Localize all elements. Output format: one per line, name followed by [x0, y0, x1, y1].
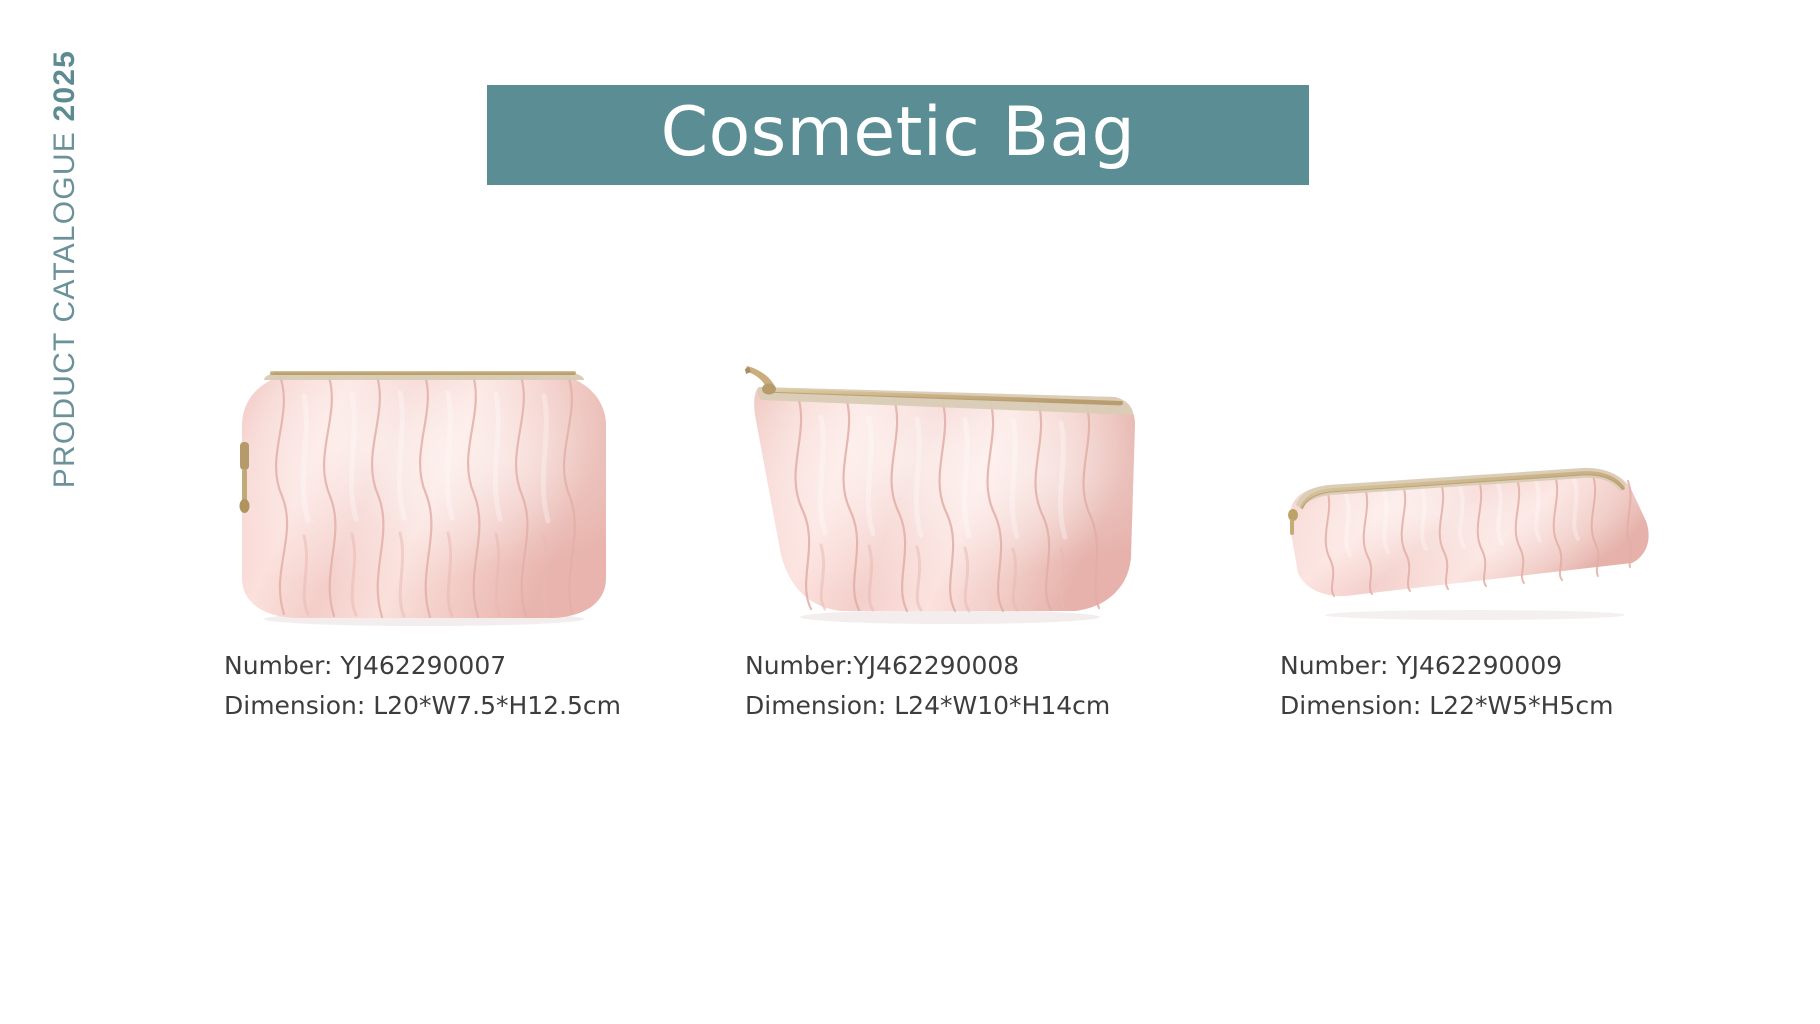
- catalogue-title-vertical: PRODUCT CATALOGUE 2025: [50, 50, 80, 488]
- catalogue-year: 2025: [48, 50, 81, 122]
- product-image-3: [1280, 455, 1670, 625]
- page-title-banner: Cosmetic Bag: [487, 85, 1309, 185]
- product-number-3: Number: YJ462290009: [1280, 646, 1562, 686]
- cosmetic-bag-trapezoid-icon: [745, 345, 1145, 625]
- product-image-2: [745, 345, 1145, 625]
- product-dimension-2: Dimension: L24*W10*H14cm: [745, 686, 1110, 726]
- product-number-1: Number: YJ462290007: [224, 646, 506, 686]
- page-title: Cosmetic Bag: [661, 99, 1136, 167]
- catalogue-title-prefix: PRODUCT CATALOGUE: [48, 122, 81, 489]
- product-number-2: Number:YJ462290008: [745, 646, 1019, 686]
- product-image-1: [224, 356, 624, 626]
- cosmetic-bag-slim-pencil-icon: [1280, 455, 1670, 625]
- product-card-3: Number: YJ462290009 Dimension: L22*W5*H5…: [1280, 455, 1670, 625]
- catalogue-slide: PRODUCT CATALOGUE 2025 Cosmetic Bag: [0, 0, 1820, 1024]
- product-dimension-3: Dimension: L22*W5*H5cm: [1280, 686, 1613, 726]
- sidebar-vertical-label: PRODUCT CATALOGUE 2025: [0, 0, 150, 1024]
- product-dimension-1: Dimension: L20*W7.5*H12.5cm: [224, 686, 621, 726]
- cosmetic-bag-rectangular-icon: [224, 356, 624, 626]
- product-card-2: Number:YJ462290008 Dimension: L24*W10*H1…: [745, 345, 1145, 625]
- product-card-1: Number: YJ462290007 Dimension: L20*W7.5*…: [224, 356, 624, 626]
